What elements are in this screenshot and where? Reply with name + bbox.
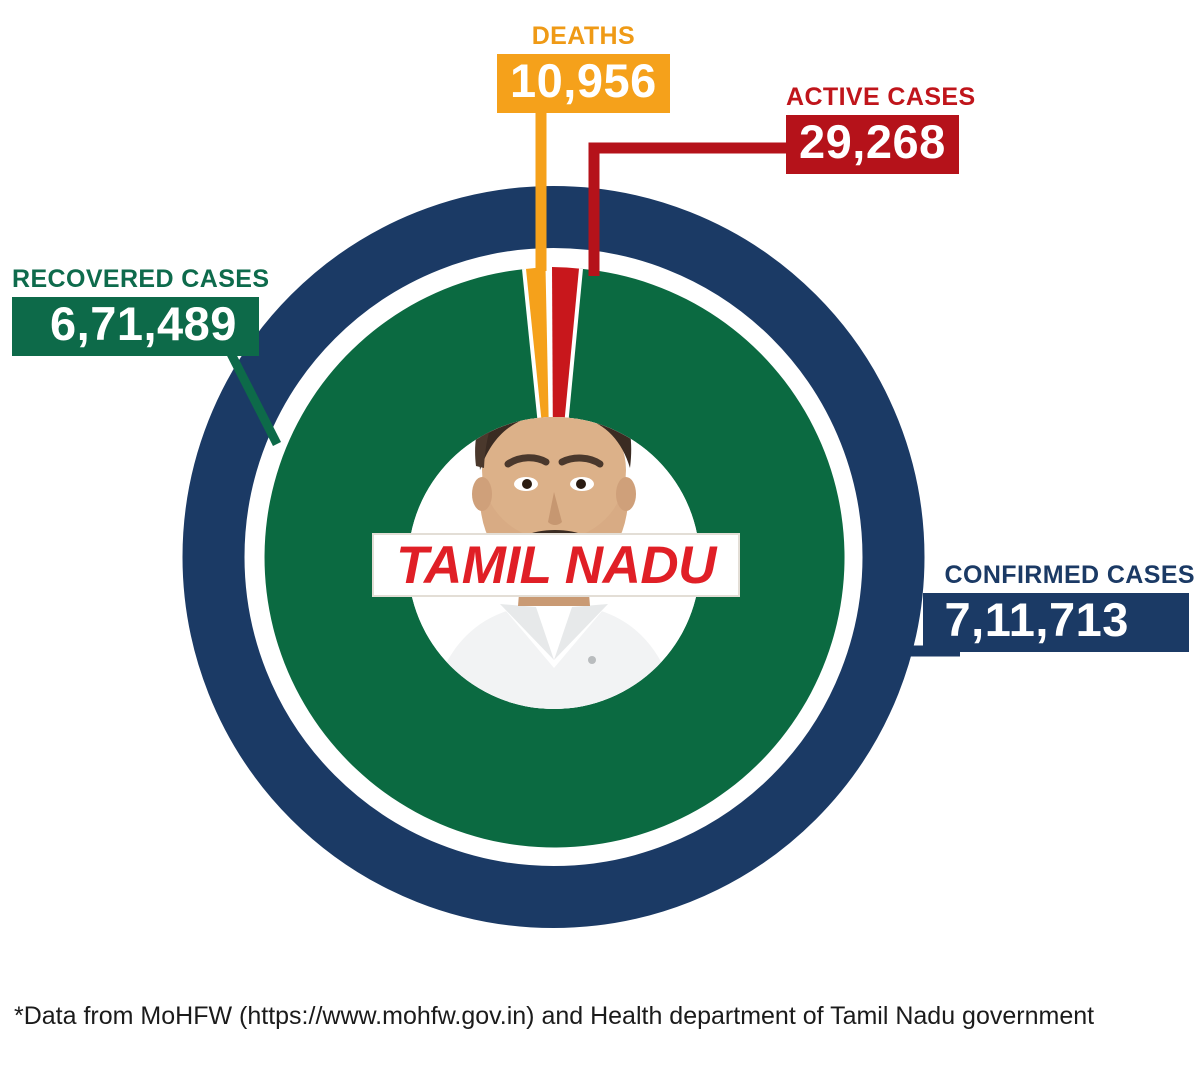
callout-confirmed-cases: CONFIRMED CASES 7,11,713 bbox=[923, 563, 1195, 652]
state-name-label: TAMIL NADU bbox=[396, 539, 716, 592]
callout-deaths-value: 10,956 bbox=[497, 54, 670, 113]
callout-deaths: DEATHS 10,956 bbox=[497, 24, 670, 113]
state-name-band: TAMIL NADU bbox=[372, 533, 740, 597]
callout-recovered-cases-value: 6,71,489 bbox=[12, 297, 259, 356]
callout-recovered-cases-caption: RECOVERED CASES bbox=[12, 267, 269, 292]
callout-active-cases-caption: ACTIVE CASES bbox=[786, 85, 976, 110]
callout-active-cases: ACTIVE CASES 29,268 bbox=[786, 85, 976, 174]
callout-confirmed-cases-caption: CONFIRMED CASES bbox=[923, 563, 1195, 588]
callout-deaths-caption: DEATHS bbox=[497, 24, 670, 49]
data-source-footnote: *Data from MoHFW (https://www.mohfw.gov.… bbox=[14, 1002, 1094, 1031]
callout-confirmed-cases-value: 7,11,713 bbox=[923, 593, 1189, 652]
callout-recovered-cases: RECOVERED CASES 6,71,489 bbox=[12, 267, 269, 356]
callout-active-cases-value: 29,268 bbox=[786, 115, 959, 174]
